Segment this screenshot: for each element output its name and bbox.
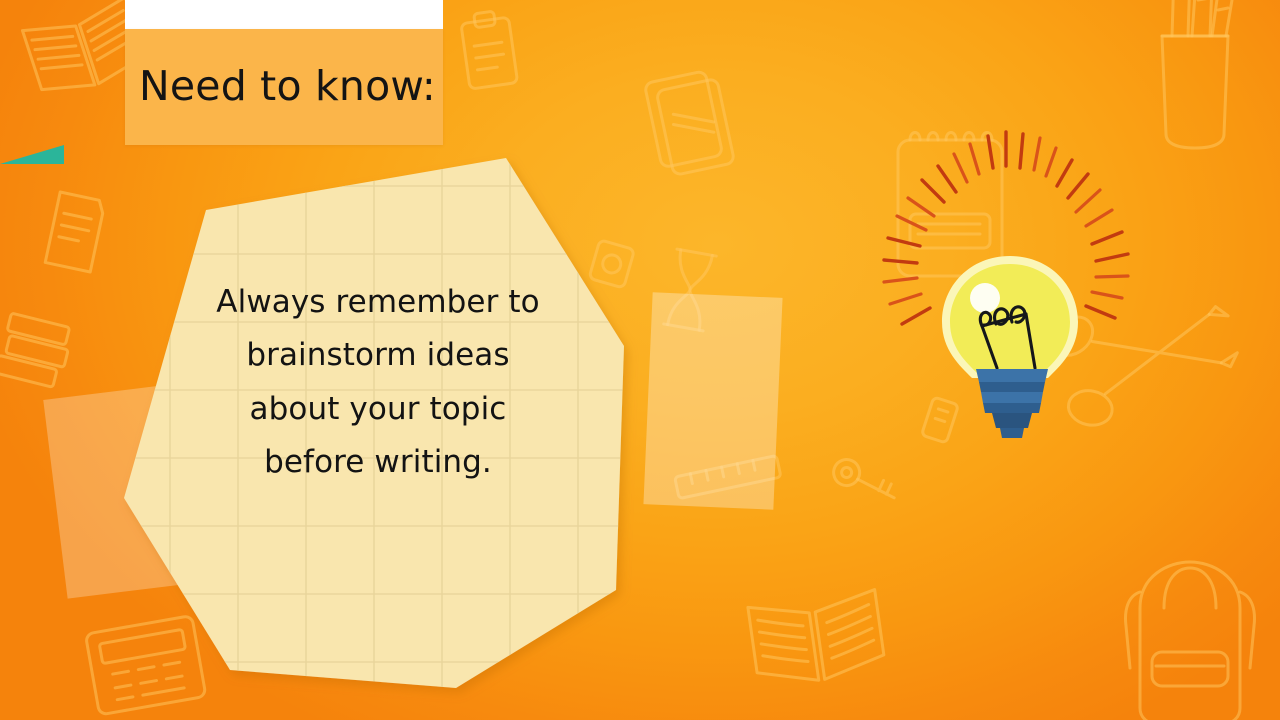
title-block: Need to know: [125, 0, 443, 145]
note-shape: Always remember to brainstorm ideas abou… [118, 150, 626, 690]
notebook-icon [640, 60, 750, 190]
paper-overlay-right [643, 292, 782, 509]
title-accent-triangle [0, 145, 64, 164]
note-line-4: before writing. [178, 436, 578, 489]
book-stack-icon [0, 300, 80, 410]
lightbulb-base [976, 369, 1048, 438]
note-line-1: Always remember to [178, 276, 578, 329]
title-panel: Need to know: [125, 29, 443, 145]
backpack-icon [1110, 548, 1270, 720]
lightbulb-illustration [860, 120, 1160, 420]
lightbulb-highlight [970, 283, 1000, 313]
slide-canvas: Need to know: Always remember to brai [0, 0, 1280, 720]
open-book-icon [742, 572, 892, 692]
paper-sheet-icon [40, 188, 110, 278]
clipboard-icon [455, 6, 525, 96]
note-line-2: brainstorm ideas [178, 329, 578, 382]
title-white-bar [125, 0, 443, 29]
page-title: Need to know: [139, 62, 436, 110]
note-line-3: about your topic [178, 383, 578, 436]
note-text: Always remember to brainstorm ideas abou… [178, 276, 578, 489]
key-icon [830, 445, 900, 525]
